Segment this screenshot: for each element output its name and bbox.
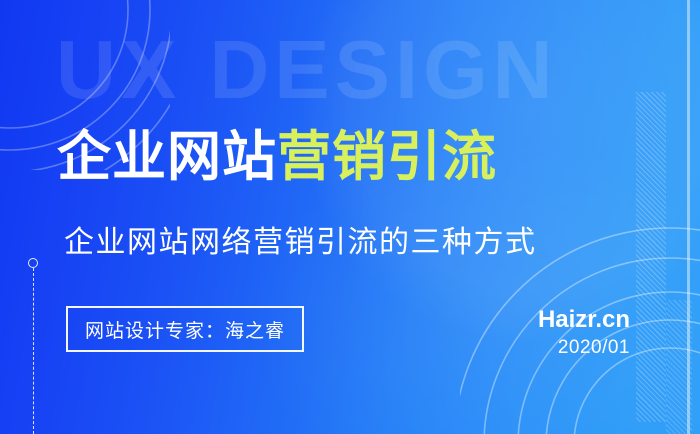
diagonal-hatch-secondary-icon [666, 300, 692, 434]
page-title: 企业网站营销引流 [57, 130, 497, 184]
brand-name: Haizr.cn [538, 306, 630, 334]
circle-dot-icon [28, 258, 38, 268]
byline-text: 网站设计专家：海之睿 [85, 316, 285, 343]
page-title-primary: 企业网站 [57, 125, 277, 188]
diagonal-hatch-icon [636, 92, 666, 422]
page-subtitle: 企业网站网络营销引流的三种方式 [64, 228, 537, 258]
brand-block: Haizr.cn 2020/01 [538, 306, 630, 362]
promo-banner: UX DESIGN 企业网站营销引流 企业网站网络营销引流的三种方式 网站设计专… [0, 0, 700, 434]
vertical-rule-icon [687, 0, 690, 434]
page-title-accent: 营销引流 [277, 125, 497, 188]
byline-box: 网站设计专家：海之睿 [66, 306, 304, 352]
watermark-text: UX DESIGN [56, 26, 656, 113]
brand-date: 2020/01 [538, 334, 630, 363]
dashed-line-icon [33, 268, 34, 434]
